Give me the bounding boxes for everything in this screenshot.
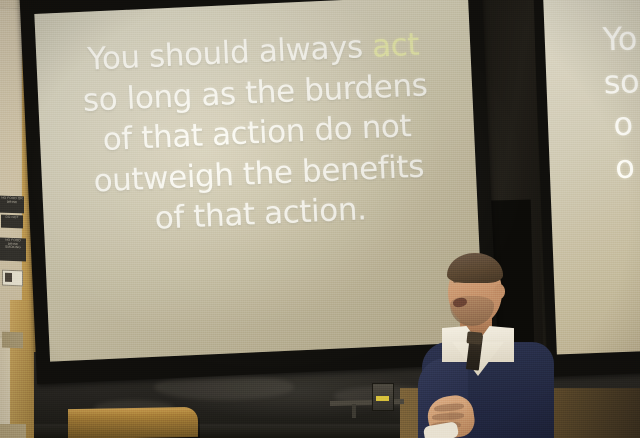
wall-notice-sign: DO NOT [1, 215, 23, 229]
bulletin-board [0, 8, 24, 339]
slide-accent-word-act: act [371, 27, 420, 65]
lecture-hall-photo: NO FOOD OR DRINK DO NOT NO FOOD DRINK SM… [0, 0, 640, 438]
wall-plaque-lower [0, 424, 26, 438]
secondary-slide-line: so [603, 60, 640, 104]
wall-plaque [2, 332, 23, 349]
av-mount-stem [352, 404, 356, 418]
podium-lectern [68, 407, 198, 438]
presenter-tie-knot [466, 331, 482, 345]
secondary-slide-line: o [613, 103, 634, 146]
secondary-slide-line: Yo [602, 17, 638, 61]
presenter-hair [447, 253, 503, 283]
av-warning-label [376, 396, 389, 401]
wall-notice-sign: NO FOOD OR DRINK [0, 196, 24, 214]
secondary-slide-line: o [614, 145, 635, 188]
wall-photo-card [2, 270, 23, 287]
presenter-speaker [398, 246, 566, 438]
presenter-ear [494, 284, 505, 299]
wall-notice-sign: NO FOOD DRINK SMOKING [0, 238, 26, 262]
slide-line-5: of that action. [154, 190, 367, 240]
